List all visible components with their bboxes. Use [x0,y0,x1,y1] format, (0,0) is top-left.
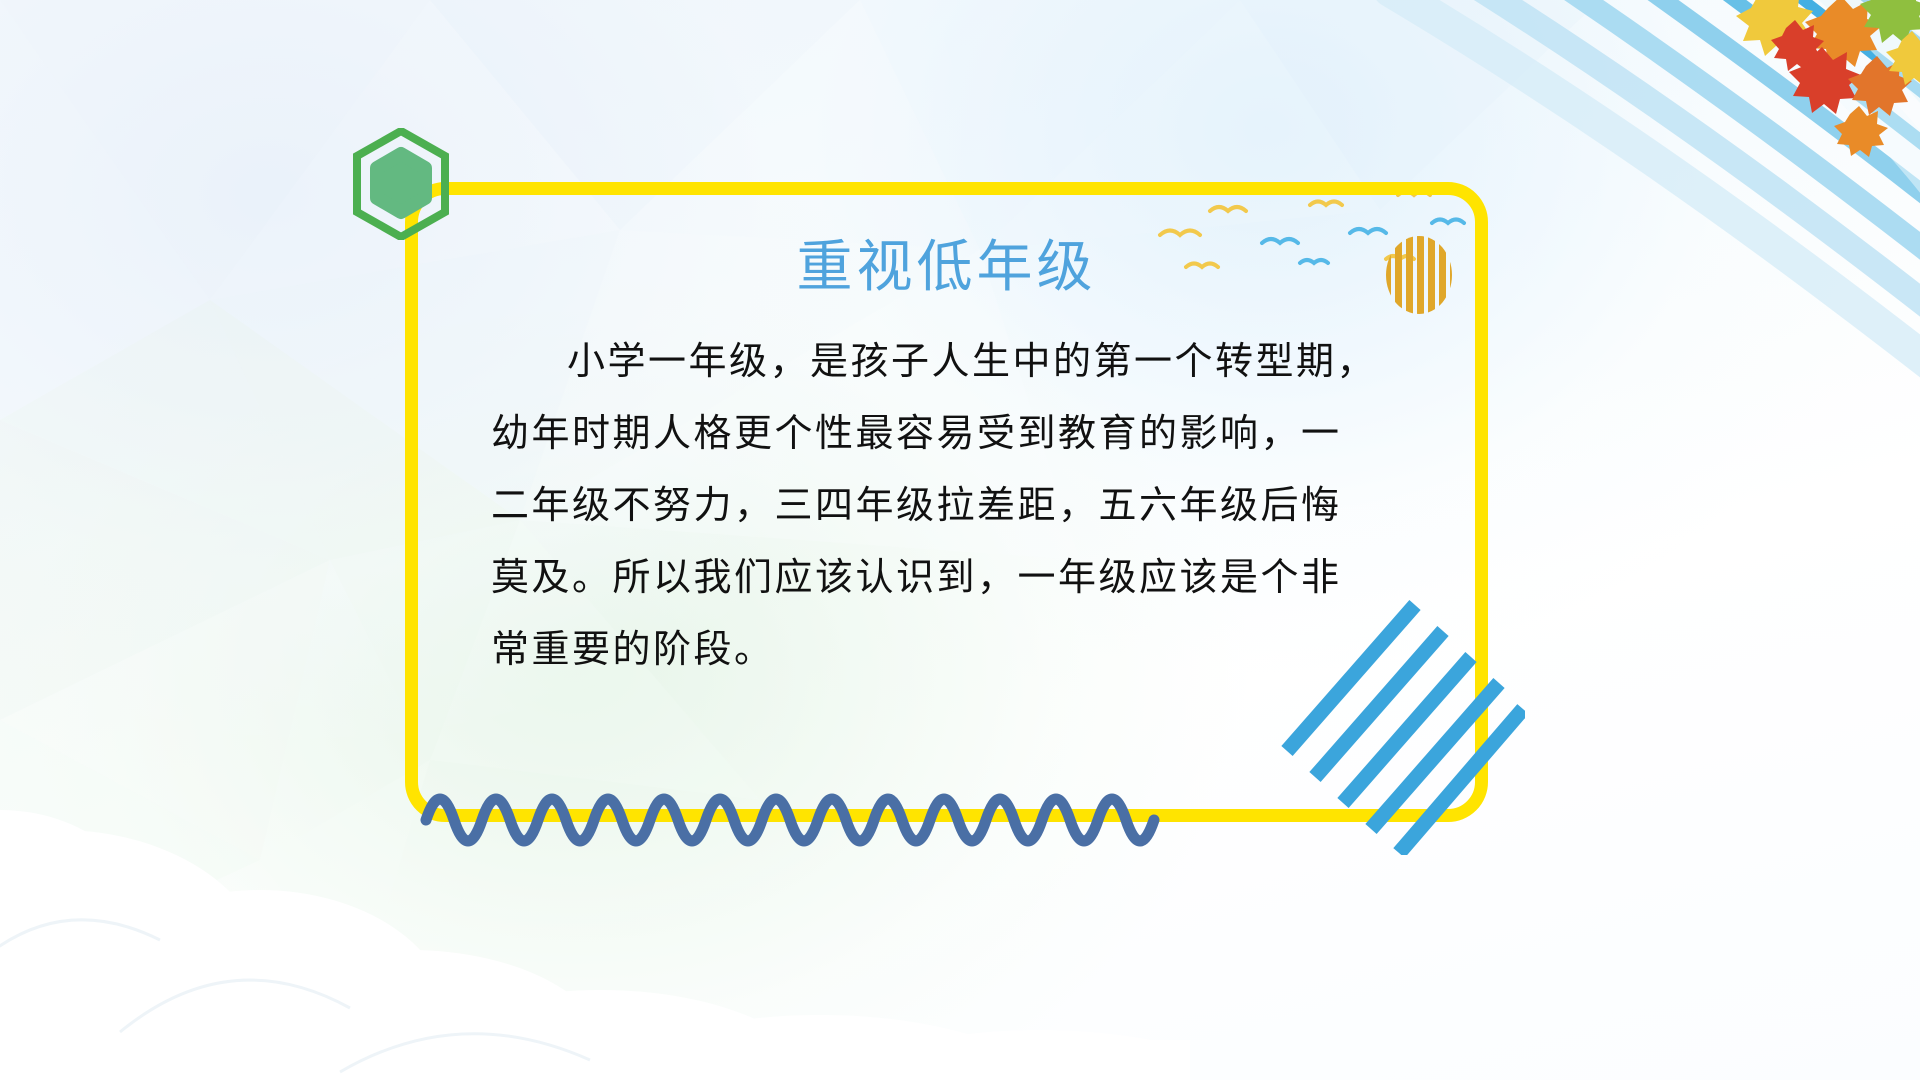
green-hexagon-icon [352,128,450,240]
striped-circle-icon [1382,234,1456,316]
blue-diagonal-stripes-icon [1265,585,1525,855]
blue-wave-line-icon [420,775,1180,865]
autumn-leaves-icon [1510,0,1920,180]
slide-canvas: 重视低年级 小学一年级，是孩子人生中的第一个转型期， 幼年时期人格更个性最容易受… [0,0,1920,1080]
